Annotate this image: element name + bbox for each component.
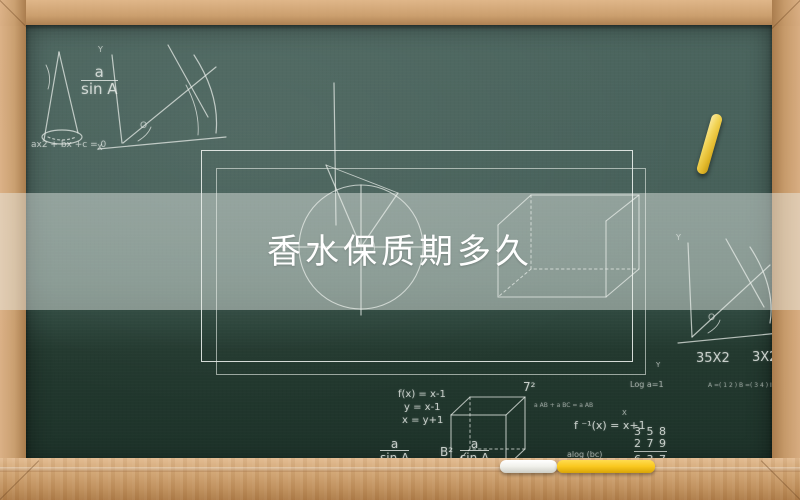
- chalk-matrix-notation: A =( 1 2 ) B =( 3 4 ) I =( 1 0 ): [708, 382, 772, 389]
- frame-corner-bottom-left: [0, 454, 46, 500]
- chalk-axis-label-y-top: Y: [98, 45, 103, 54]
- page-title: 香水保质期多久: [267, 235, 533, 269]
- chalk-small-equation: a AB + a BC = a AB: [534, 402, 593, 409]
- chalk-function-y: y = x-1: [404, 402, 441, 413]
- cone-diagram: [42, 52, 82, 144]
- chalk-subtraction-subtrahend: 2 7 9: [634, 437, 667, 450]
- title-overlay-band: 香水保质期多久: [0, 193, 800, 310]
- chalk-mult-3x2: 3X2: [752, 350, 772, 365]
- frac-denominator: sin A: [81, 80, 118, 97]
- chalk-axis-label-x-circle: X: [622, 409, 627, 417]
- chalk-function-fx: f(x) = x-1: [398, 389, 446, 400]
- chalk-axis-label-y-circle: Y: [656, 361, 660, 369]
- yellow-chalk-piece-icon[interactable]: [557, 460, 655, 473]
- chalk-angle-label-right: O: [708, 313, 715, 323]
- chalk-angle-label-top: O: [140, 121, 147, 131]
- chalk-mult-35x2: 35X2: [696, 351, 730, 366]
- white-chalk-piece-icon[interactable]: [500, 460, 557, 473]
- chalk-b-squared: B²: [440, 445, 453, 459]
- chalk-tray: [0, 458, 800, 500]
- frame-top-rail: [0, 0, 800, 26]
- screenshot-root: a sin A ax2 + bx +c = 0 Y X O f(x) = x-1…: [0, 0, 800, 500]
- chalk-fraction-a-sin-a-top: a sin A: [81, 65, 118, 98]
- frac-numerator: a: [391, 437, 398, 451]
- frac-numerator: a: [471, 437, 478, 451]
- chalk-quadratic-equation: ax2 + bx +c = 0: [31, 140, 106, 150]
- chalk-log: Log a=1: [630, 380, 664, 389]
- chalk-axis-label-x-top: X: [97, 143, 102, 152]
- chalk-seven-squared: 7²: [523, 380, 535, 394]
- tray-lip: [0, 467, 800, 472]
- frame-corner-bottom-right: [754, 454, 800, 500]
- frac-numerator: a: [95, 63, 104, 81]
- chalk-function-x: x = y+1: [402, 415, 443, 426]
